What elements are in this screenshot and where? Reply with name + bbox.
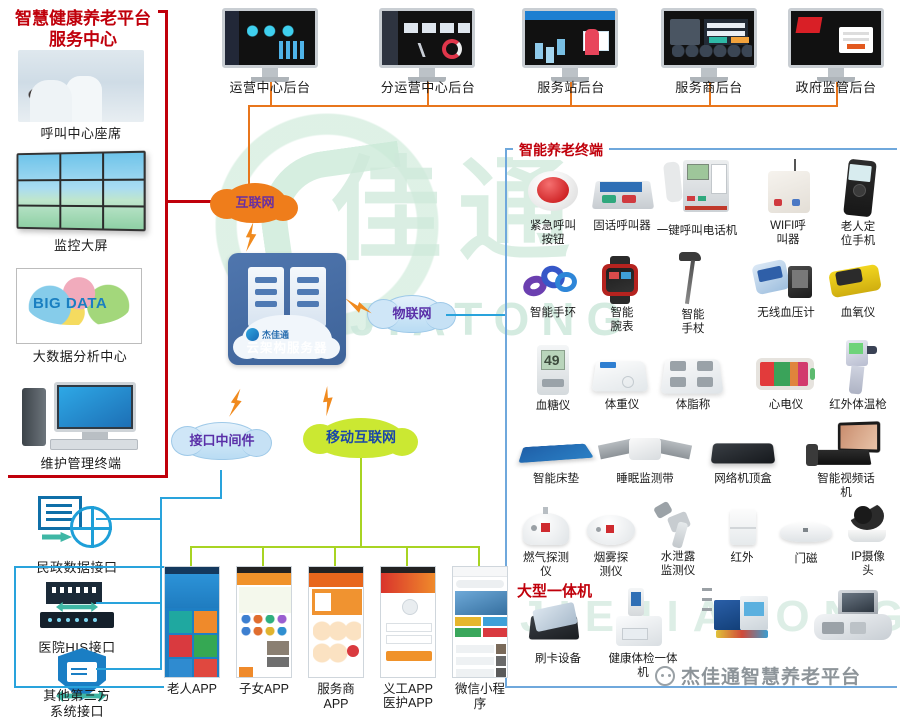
cap-l1: 血糖仪 <box>536 400 571 412</box>
smart-cane-icon <box>655 252 731 306</box>
device-landline-pager[interactable]: 固话呼叫器 <box>584 165 660 233</box>
device-one-key-phone[interactable]: 一键呼叫电话机 <box>655 158 739 238</box>
console-label-5: 政府监管后台 <box>776 80 896 96</box>
device-wifi-pager[interactable]: WIFI呼叫器 <box>750 165 826 247</box>
video-wall-icon <box>17 151 146 232</box>
cloud-iot[interactable]: 物联网 <box>378 295 446 333</box>
iot-to-terminals-line <box>446 314 505 316</box>
desktop-pc-icon <box>20 382 140 452</box>
smart-band-icon <box>515 258 591 304</box>
app-drop-1 <box>190 546 192 568</box>
cap-l1: 无线血压计 <box>757 307 815 319</box>
cap-l1: 智能 <box>611 307 634 319</box>
apps-top-border <box>14 566 164 568</box>
infrared-thermometer-icon <box>820 340 896 396</box>
device-door-sensor[interactable]: 门磁 <box>775 508 837 566</box>
middleware-drop-line <box>220 470 222 498</box>
service-center-title: 智慧健康养老平台 服务中心 <box>8 8 158 50</box>
cap-l2: 测仪 <box>600 566 623 578</box>
cloud-iot-label: 物联网 <box>392 307 431 321</box>
footer-watermark: 杰佳通智慧养老平台 <box>655 662 861 689</box>
cap-l1: 网络机顶盒 <box>714 473 772 485</box>
console-label-3: 服务站后台 <box>512 80 630 96</box>
console-label-2: 分运营中心后台 <box>362 80 494 96</box>
ecg-monitor-icon <box>748 350 824 396</box>
one-key-phone-icon <box>655 158 739 220</box>
smart-watch-icon <box>584 256 660 304</box>
cap-l1: WIFI呼 <box>770 220 806 232</box>
bus-to-internet-cloud <box>248 105 250 195</box>
cap-l2: 头 <box>862 565 874 577</box>
health-kiosk-icon <box>600 588 686 650</box>
cloud-mobile-internet[interactable]: 移动互联网 <box>316 418 406 458</box>
console-screen-4 <box>661 8 757 68</box>
smoke-detector-icon <box>578 505 644 549</box>
cap-l2: 位手机 <box>841 235 876 247</box>
app-label: 服务商APP <box>317 682 355 711</box>
interface-bus-to-middleware <box>160 497 222 499</box>
cap-l1: 紧急呼叫 <box>530 220 576 232</box>
his-interface-line <box>96 602 162 604</box>
device-medical-cart[interactable] <box>700 582 786 646</box>
device-smart-cane[interactable]: 智能手杖 <box>655 252 731 336</box>
cap-l1: 红外体温枪 <box>829 399 887 411</box>
cap-l2: 手杖 <box>682 323 705 335</box>
senior-gps-phone-icon <box>820 160 896 218</box>
console-label-1: 运营中心后台 <box>210 80 330 96</box>
device-ip-camera[interactable]: IP摄像头 <box>838 500 898 578</box>
bolt-server-to-mobile <box>318 385 338 417</box>
service-center-title-line1: 智慧健康养老平台 <box>8 8 158 29</box>
bus-line-top-horizontal <box>248 105 838 107</box>
device-smart-watch[interactable]: 智能腕表 <box>584 256 660 334</box>
big-data-icon: BIG DATA <box>16 268 142 344</box>
device-set-top-box[interactable]: 网络机顶盒 <box>700 432 786 486</box>
device-pulse-oximeter[interactable]: 血氧仪 <box>820 258 896 320</box>
body-fat-scale-icon <box>655 352 731 396</box>
set-top-box-icon <box>700 432 786 470</box>
device-emergency-button[interactable]: 紧急呼叫按钮 <box>515 165 591 247</box>
smart-mattress-icon <box>518 432 594 470</box>
wireless-bp-monitor-icon <box>748 258 824 304</box>
big-data-label: 大数据分析中心 <box>12 349 148 365</box>
civil-interface-line <box>96 518 162 520</box>
cap-l1: 红外 <box>731 552 754 564</box>
console-screen-5 <box>788 8 884 68</box>
cloud-internet-label: 互联网 <box>235 196 274 210</box>
wifi-pager-icon <box>750 165 826 217</box>
device-weight-scale[interactable]: 体重仪 <box>584 352 660 412</box>
cap-l2: 腕表 <box>611 321 634 333</box>
device-water-leak-sensor[interactable]: 水泄露监测仪 <box>643 500 713 578</box>
device-ultrasound[interactable] <box>808 588 896 648</box>
cap-l1: 刷卡设备 <box>535 653 581 665</box>
wechat-icon <box>655 666 675 686</box>
device-smart-band[interactable]: 智能手环 <box>515 258 591 320</box>
provider-app-screen <box>308 566 364 678</box>
device-card-reader[interactable]: 刷卡设备 <box>520 598 596 666</box>
console-screen-2 <box>379 8 475 68</box>
landline-pager-icon <box>584 165 660 217</box>
third-party-interface-label: 其他第三方 系统接口 <box>8 688 146 720</box>
device-smart-mattress[interactable]: 智能床垫 <box>518 432 594 486</box>
device-sleep-monitor-belt[interactable]: 睡眠监测带 <box>597 430 693 486</box>
device-video-phone[interactable]: 智能视频话机 <box>800 422 892 500</box>
service-center-title-line2: 服务中心 <box>8 29 158 50</box>
device-senior-gps-phone[interactable]: 老人定位手机 <box>820 160 896 248</box>
app-drop-4 <box>406 546 408 568</box>
console-screen-1 <box>222 8 318 68</box>
call-center-label: 呼叫中心座席 <box>18 126 144 142</box>
cap-l1: 智能视频话 <box>817 473 875 485</box>
cap-l1: 体脂称 <box>676 399 711 411</box>
cap-l1: 水泄露 <box>661 551 696 563</box>
children-app-screen <box>236 566 292 678</box>
app-volunteer-medical[interactable]: 义工APP医护APP <box>378 566 438 710</box>
cap-l1: 燃气探测 <box>523 552 569 564</box>
cap-l2: 机 <box>637 667 649 679</box>
cap-l1: 智能 <box>682 309 705 321</box>
elderly-app-screen <box>164 566 220 678</box>
device-gas-detector[interactable]: 燃气探测仪 <box>513 505 579 579</box>
smart-terminal-title: 智能养老终端 <box>513 140 609 160</box>
app-label: 微信小程序 <box>455 682 505 711</box>
apps-bottom-border <box>14 686 164 688</box>
device-wireless-bp-monitor[interactable]: 无线血压计 <box>748 258 824 320</box>
app-elderly[interactable]: 老人APP <box>162 566 222 697</box>
glucose-meter-icon: 49 <box>515 345 591 397</box>
app-label: 子女APP <box>239 682 289 696</box>
cap-l1: 门磁 <box>795 553 818 565</box>
device-ecg-monitor[interactable]: 心电仪 <box>748 350 824 412</box>
card-reader-icon <box>520 598 596 650</box>
mobile-bus-vertical <box>360 458 362 548</box>
cap-l2: 按钮 <box>542 234 565 246</box>
app-label-1: 义工APP <box>383 682 433 696</box>
bolt-middleware-to-server <box>225 387 247 420</box>
cloud-architecture-server[interactable]: 杰佳通 云架构服务器 <box>228 253 346 365</box>
emergency-button-icon <box>515 165 591 217</box>
video-wall-label: 监控大屏 <box>18 238 144 254</box>
app-label-2: 医护APP <box>383 696 433 710</box>
third-party-label-line2: 系统接口 <box>8 704 146 720</box>
cap-l1: 血氧仪 <box>841 307 876 319</box>
cloud-internet[interactable]: 互联网 <box>222 183 288 223</box>
gas-detector-icon <box>513 505 579 549</box>
apps-left-border <box>14 566 16 686</box>
app-drop-3 <box>334 546 336 568</box>
medical-cart-icon <box>700 582 786 644</box>
cap-l1: 烟雾探 <box>594 552 629 564</box>
console-label-4: 服务商后台 <box>650 80 768 96</box>
cap-l1: 智能手环 <box>530 307 576 319</box>
cap-l1: 老人定 <box>841 221 876 233</box>
cap-l1: 体重仪 <box>605 399 640 411</box>
volunteer-app-screen <box>380 566 436 678</box>
video-phone-icon <box>800 422 892 470</box>
globe-documents-icon <box>34 494 120 552</box>
device-glucose-meter[interactable]: 49 血糖仪 <box>515 345 591 413</box>
infrared-sensor-icon <box>712 505 772 549</box>
cap-l1: 一键呼叫电话机 <box>657 225 738 237</box>
device-smoke-detector[interactable]: 烟雾探测仪 <box>578 505 644 579</box>
diagram-canvas: 佳通 JIEJIATONG JIEJIATONG 智慧健康养老平台 服务中心 呼… <box>0 0 900 715</box>
server-caption: 云架构服务器 <box>228 337 346 356</box>
app-label: 老人APP <box>167 682 217 696</box>
app-drop-2 <box>262 546 264 568</box>
cap-l1: 心电仪 <box>769 399 804 411</box>
water-leak-sensor-icon <box>643 500 713 548</box>
device-infrared-sensor[interactable]: 红外 <box>712 505 772 565</box>
app-provider[interactable]: 服务商APP <box>306 566 366 712</box>
door-sensor-icon <box>775 508 837 550</box>
bolt-internet-to-server <box>242 221 260 252</box>
call-center-photo <box>18 50 144 122</box>
maintenance-terminal-label: 维护管理终端 <box>18 456 144 472</box>
console-service-station[interactable] <box>522 8 618 82</box>
app-children[interactable]: 子女APP <box>234 566 294 697</box>
third-party-interface-line <box>96 668 162 670</box>
cloud-middleware-label: 接口中间件 <box>189 434 254 448</box>
cap-l2: 机 <box>840 487 852 499</box>
console-operation-center[interactable] <box>222 8 318 82</box>
third-party-label-line1: 其他第三方 <box>8 688 146 704</box>
device-body-fat-scale[interactable]: 体脂称 <box>655 352 731 412</box>
app-drop-5 <box>478 546 480 568</box>
app-wechat-miniprogram[interactable]: 微信小程序 <box>450 566 510 712</box>
ip-camera-icon <box>838 500 898 548</box>
ultrasound-device-icon <box>808 588 896 646</box>
console-screen-3 <box>522 8 618 68</box>
cap-l1: 智能床垫 <box>533 473 579 485</box>
cloud-middleware[interactable]: 接口中间件 <box>182 422 262 460</box>
civil-affairs-interface-label: 民政数据接口 <box>8 560 146 576</box>
footer-watermark-text: 杰佳通智慧养老平台 <box>681 662 861 689</box>
large-kiosk-title: 大型一体机 <box>513 580 596 601</box>
console-government-supervision[interactable] <box>788 8 884 82</box>
pulse-oximeter-icon <box>820 258 896 304</box>
router-exchange-icon <box>38 580 124 638</box>
cap-l2: 叫器 <box>777 234 800 246</box>
weight-scale-icon <box>584 352 660 396</box>
sleep-monitor-belt-icon <box>597 430 693 470</box>
cloud-mobile-label: 移动互联网 <box>326 430 396 445</box>
device-infrared-thermometer[interactable]: 红外体温枪 <box>820 340 896 412</box>
cap-l1: 睡眠监测带 <box>616 473 674 485</box>
cap-l2: 监测仪 <box>661 565 696 577</box>
cap-l1: IP摄像 <box>851 551 885 563</box>
cap-l1: 固话呼叫器 <box>593 220 651 232</box>
console-branch-operation-center[interactable] <box>379 8 475 82</box>
cap-l2: 仪 <box>540 566 552 578</box>
console-service-provider[interactable] <box>661 8 757 82</box>
wechat-miniprogram-screen <box>452 566 508 678</box>
